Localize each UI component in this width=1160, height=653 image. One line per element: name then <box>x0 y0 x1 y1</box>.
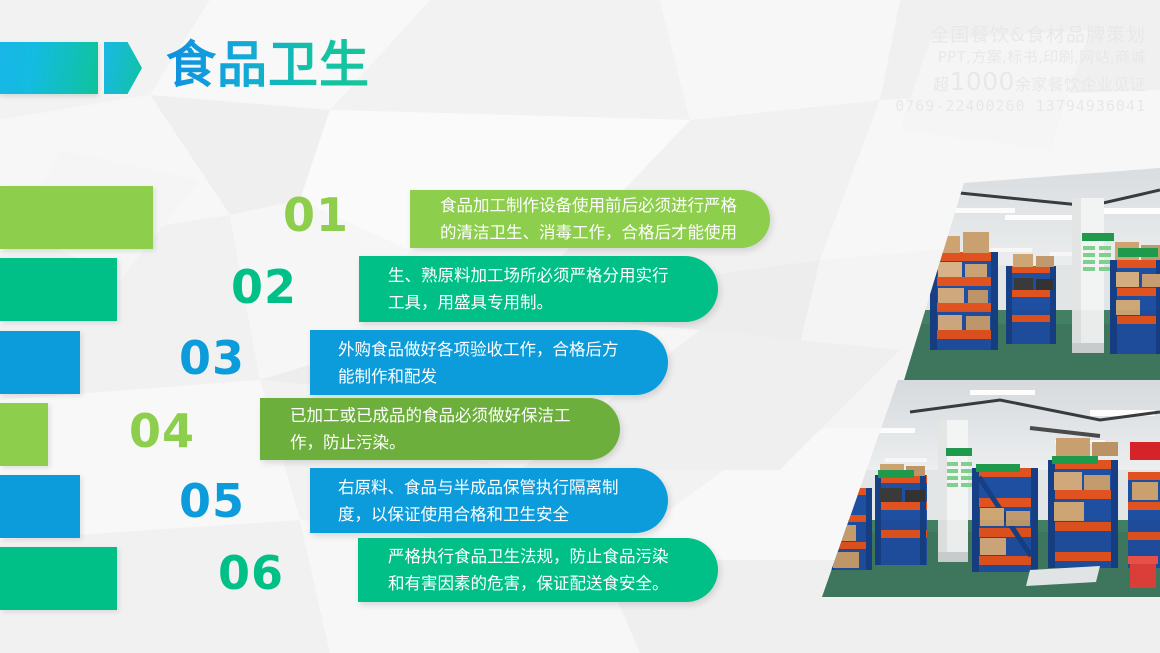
left-accent-bar-2 <box>0 258 117 321</box>
item-pill-03[interactable]: 外购食品做好各项验收工作，合格后方 能制作和配发 <box>310 330 668 395</box>
watermark: 全国餐饮&食材品牌策划 PPT,方案,标书,印刷,网站,商城 超1000余家餐饮… <box>895 26 1146 114</box>
item-text-04: 已加工或已成品的食品必须做好保洁工 作，防止污染。 <box>260 402 589 456</box>
header-accent-bar <box>0 42 98 94</box>
item-number-01: 01 <box>283 192 349 238</box>
warehouse-shelving-photo-bottom <box>800 380 1160 620</box>
left-accent-bar-5 <box>0 475 80 538</box>
watermark-phone-numbers: 0769-22400260 13794936041 <box>895 99 1146 114</box>
page-title: 食品卫生 <box>166 34 370 96</box>
item-text-06: 严格执行食品卫生法规，防止食品污染 和有害因素的危害，保证配送食安全。 <box>358 543 687 597</box>
left-accent-bar-1 <box>0 186 153 249</box>
item-number-03: 03 <box>179 335 245 381</box>
warehouse-shelving-photo-top <box>800 160 1160 410</box>
item-number-05: 05 <box>179 478 245 524</box>
left-accent-bar-3 <box>0 331 80 394</box>
item-pill-05[interactable]: 右原料、食品与半成品保管执行隔离制 度，以保证使用合格和卫生安全 <box>310 468 668 533</box>
left-accent-bar-4 <box>0 403 48 466</box>
item-pill-04[interactable]: 已加工或已成品的食品必须做好保洁工 作，防止污染。 <box>260 398 620 460</box>
item-number-06: 06 <box>218 550 284 596</box>
watermark-line-3-prefix: 超 <box>933 75 949 94</box>
item-text-01: 食品加工制作设备使用前后必须进行严格 的清洁卫生、消毒工作，合格后才能使用 <box>410 192 755 246</box>
item-pill-02[interactable]: 生、熟原料加工场所必须严格分用实行 工具，用盛具专用制。 <box>359 256 718 322</box>
item-number-02: 02 <box>231 264 297 310</box>
watermark-line-3-number: 1000 <box>950 67 1015 96</box>
slide-root: 食品卫生 全国餐饮&食材品牌策划 PPT,方案,标书,印刷,网站,商城 超100… <box>0 0 1160 653</box>
item-pill-06[interactable]: 严格执行食品卫生法规，防止食品污染 和有害因素的危害，保证配送食安全。 <box>358 538 718 602</box>
watermark-line-3: 超1000余家餐饮企业见证 <box>895 69 1146 94</box>
watermark-line-3-suffix: 余家餐饮企业见证 <box>1015 75 1146 94</box>
item-text-02: 生、熟原料加工场所必须严格分用实行 工具，用盛具专用制。 <box>359 262 687 316</box>
watermark-line-2: PPT,方案,标书,印刷,网站,商城 <box>895 50 1146 65</box>
watermark-line-1: 全国餐饮&食材品牌策划 <box>895 26 1146 45</box>
item-text-05: 右原料、食品与半成品保管执行隔离制 度，以保证使用合格和卫生安全 <box>310 474 637 528</box>
item-text-03: 外购食品做好各项验收工作，合格后方 能制作和配发 <box>310 336 637 390</box>
item-pill-01[interactable]: 食品加工制作设备使用前后必须进行严格 的清洁卫生、消毒工作，合格后才能使用 <box>410 190 770 248</box>
item-number-04: 04 <box>129 408 195 454</box>
left-accent-bar-6 <box>0 547 117 610</box>
